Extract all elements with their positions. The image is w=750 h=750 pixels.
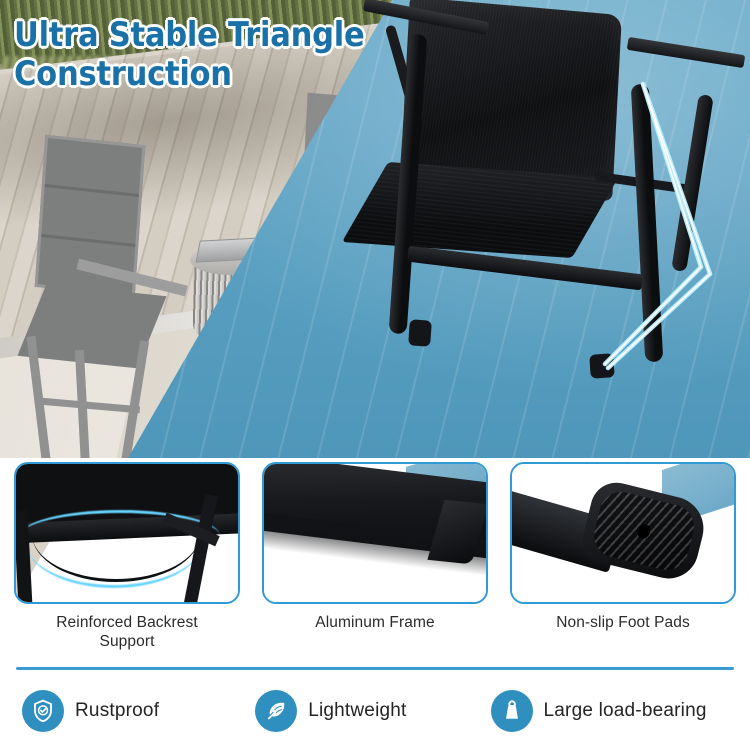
chair-foot-right (589, 353, 615, 379)
feature-card-backrest: Reinforced Backrest Support (14, 462, 240, 652)
feature-cards: Reinforced Backrest Support Aluminum Fra… (0, 462, 750, 652)
chair-armrest-right (627, 37, 746, 68)
caption-line1: Non-slip Foot Pads (556, 614, 690, 631)
badge-label-rustproof: Rustproof (75, 700, 159, 722)
feature-card-image-foot-pads[interactable] (510, 462, 736, 604)
feature-card-foot-pads: Non-slip Foot Pads (510, 462, 736, 652)
hero-image: Ultra Stable Triangle Construction (0, 0, 750, 458)
badge-label-load-bearing: Large load-bearing (544, 700, 707, 722)
weight-icon (491, 690, 533, 732)
chair-seat (342, 162, 618, 258)
product-feature-page: Ultra Stable Triangle Construction Reinf… (0, 0, 750, 750)
badge-load-bearing[interactable]: Large load-bearing (491, 681, 707, 741)
caption-line1: Reinforced Backrest (56, 614, 197, 631)
black-folding-chair (355, 2, 750, 458)
chair-front-right-leg (631, 84, 664, 363)
feature-card-frame: Aluminum Frame (262, 462, 488, 652)
page-title-line2: Construction (14, 55, 401, 94)
feather-icon (255, 690, 297, 732)
seat-mesh-texture (342, 162, 618, 258)
caption-line2: Support (100, 633, 155, 650)
feature-caption-backrest: Reinforced Backrest Support (14, 613, 240, 651)
section-divider (16, 667, 734, 670)
caption-line1: Aluminum Frame (315, 614, 434, 631)
grey-chair-crossbar (40, 398, 140, 414)
feature-card-image-frame[interactable] (262, 462, 488, 604)
feature-card-image-backrest[interactable] (14, 462, 240, 604)
benefit-badges: Rustproof Lightweight Large load-bearing (0, 681, 750, 741)
page-title: Ultra Stable Triangle Construction (14, 16, 401, 94)
badge-label-lightweight: Lightweight (308, 700, 406, 722)
badge-rustproof[interactable]: Rustproof (22, 681, 159, 741)
chair-foot-left (408, 319, 432, 346)
badge-lightweight[interactable]: Lightweight (255, 681, 406, 741)
page-title-line1: Ultra Stable Triangle (14, 15, 364, 55)
feature-caption-frame: Aluminum Frame (262, 613, 488, 632)
feature-caption-foot-pads: Non-slip Foot Pads (510, 613, 736, 632)
shield-check-icon (22, 690, 64, 732)
